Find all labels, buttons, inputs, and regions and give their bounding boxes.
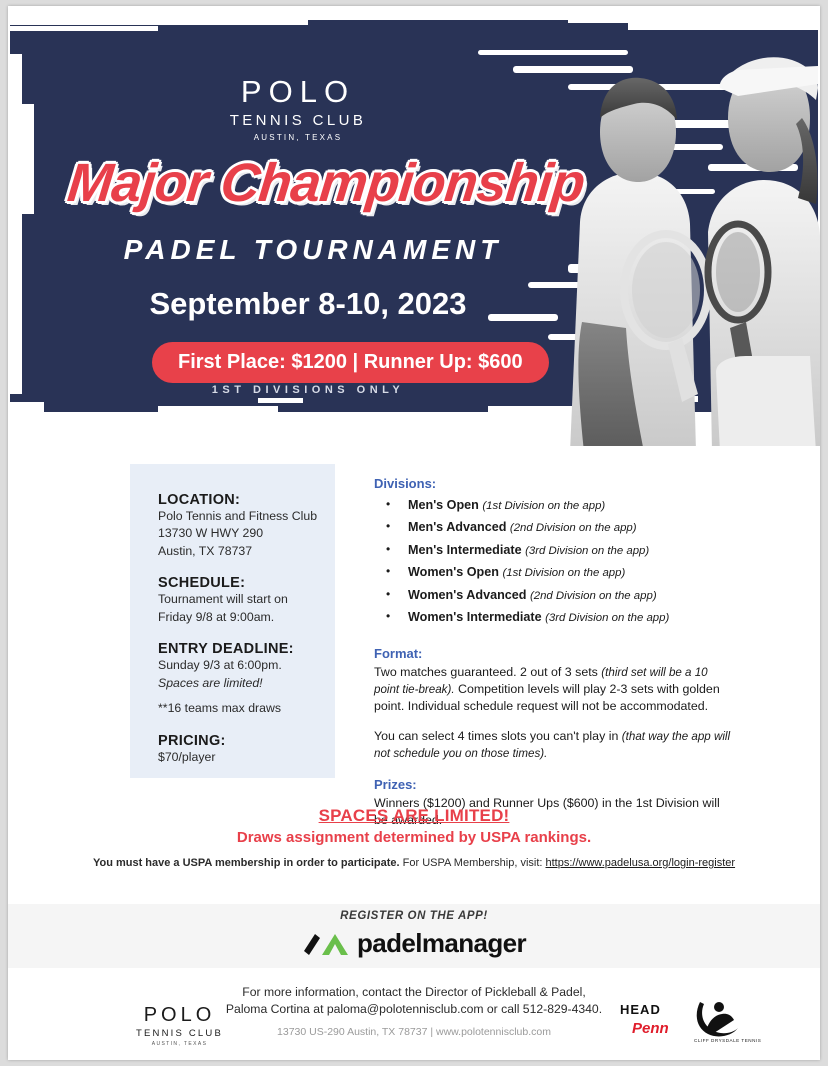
divisions-list: • Men's Open (1st Division on the app) •… [374,494,734,628]
penn-sponsor-logo: Penn [632,1020,669,1037]
hero-logo-polo: POLO [8,76,588,109]
bullet-icon: • [386,606,390,627]
event-subtitle: PADEL TOURNAMENT [8,234,618,266]
division-name: Women's Intermediate [408,610,542,624]
division-name: Men's Open [408,498,479,512]
register-band: REGISTER ON THE APP! padelmanager [8,904,820,968]
location-line-3: Austin, TX 78737 [158,543,335,560]
brush-stroke-top [8,14,308,25]
format-paragraph-1: Two matches guaranteed. 2 out of 3 sets … [374,664,734,715]
location-heading: LOCATION: [158,492,335,508]
schedule-heading: SCHEDULE: [158,575,335,591]
event-date: September 8-10, 2023 [8,286,608,322]
footer-logo-club: TENNIS CLUB [136,1028,223,1039]
deadline-line-2: Spaces are limited! [158,675,335,692]
bullet-icon: • [386,584,390,605]
register-band-title: REGISTER ON THE APP! [8,910,820,922]
list-item: • Women's Advanced (2nd Division on the … [374,584,734,606]
footer-logo-city: AUSTIN, TEXAS [136,1041,223,1047]
schedule-line-1: Tournament will start on [158,591,335,608]
division-name: Men's Intermediate [408,543,522,557]
footer-logo-polo: POLO [136,1004,223,1027]
list-item: • Men's Intermediate (3rd Division on th… [374,539,734,561]
format-p2-a: You can select 4 times slots you can't p… [374,729,622,743]
sponsor-logos: HEAD Penn CLIFF DRYSDALE TENNIS [620,998,790,1048]
hero-logo-club: TENNIS CLUB [8,112,588,129]
brush-stroke-bottom [158,406,278,414]
footer-club-logo: POLO TENNIS CLUB AUSTIN, TEXAS [136,1004,223,1047]
head-sponsor-logo: HEAD [620,1002,661,1017]
division-note: (1st Division on the app) [502,567,625,579]
division-note: (3rd Division on the app) [525,545,649,557]
location-line-1: Polo Tennis and Fitness Club [158,508,335,525]
padelmanager-mark-icon [302,930,348,963]
uspa-rest-text: For USPA Membership, visit: [400,857,546,869]
pricing-heading: PRICING: [158,733,335,749]
location-line-2: 13730 W HWY 290 [158,525,335,542]
brush-stroke-bottom [258,398,303,403]
format-p1-a: Two matches guaranteed. 2 out of 3 sets [374,665,601,679]
padelmanager-wordmark: padelmanager [357,928,526,958]
division-note: (3rd Division on the app) [545,612,669,624]
uspa-bold-text: You must have a USPA membership in order… [93,857,400,869]
division-name: Women's Open [408,565,499,579]
division-note: (2nd Division on the app) [510,522,637,534]
list-item: • Women's Intermediate (3rd Division on … [374,606,734,628]
division-name: Men's Advanced [408,520,506,534]
padelmanager-logo[interactable]: padelmanager [8,928,820,963]
brush-stroke-top [8,26,158,31]
deadline-line-1: Sunday 9/3 at 6:00pm. [158,657,335,674]
bullet-icon: • [386,516,390,537]
uspa-membership-link[interactable]: https://www.padelusa.org/login-register [546,857,736,869]
spaces-limited-callout: SPACES ARE LIMITED! [8,806,820,826]
brush-stroke-top [298,14,418,20]
hero-banner: POLO TENNIS CLUB AUSTIN, TEXAS Major Cha… [8,14,820,446]
brush-stroke-bottom [8,402,44,414]
list-item: • Men's Open (1st Division on the app) [374,494,734,516]
prize-badge: First Place: $1200 | Runner Up: $600 [152,342,549,383]
division-note: (1st Division on the app) [482,500,605,512]
event-title: Major Championship [23,152,630,214]
format-paragraph-2: You can select 4 times slots you can't p… [374,728,734,762]
flyer-page: POLO TENNIS CLUB AUSTIN, TEXAS Major Cha… [8,6,820,1060]
brush-stroke-top [438,14,498,19]
division-note: (2nd Division on the app) [530,590,657,602]
deadline-heading: ENTRY DEADLINE: [158,641,335,657]
hero-logo-city: AUSTIN, TEXAS [8,133,588,142]
prizes-heading: Prizes: [374,777,734,792]
format-heading: Format: [374,646,734,661]
bullet-icon: • [386,561,390,582]
draws-assignment-note: Draws assignment determined by USPA rank… [8,829,820,846]
divisions-only-note: 1ST DIVISIONS ONLY [8,384,608,396]
division-name: Women's Advanced [408,588,526,602]
list-item: • Men's Advanced (2nd Division on the ap… [374,516,734,538]
bullet-icon: • [386,494,390,515]
pricing-line-1: $70/player [158,749,335,766]
divisions-heading: Divisions: [374,476,734,491]
deadline-line-3: **16 teams max draws [158,700,335,717]
uspa-membership-note: You must have a USPA membership in order… [8,857,820,869]
details-infobox: LOCATION: Polo Tennis and Fitness Club 1… [130,464,335,778]
hero-club-logo: POLO TENNIS CLUB AUSTIN, TEXAS [8,76,588,142]
bullet-icon: • [386,539,390,560]
cliff-drysdale-label: CLIFF DRYSDALE TENNIS [694,1038,761,1043]
schedule-line-2: Friday 9/8 at 9:00am. [158,609,335,626]
list-item: • Women's Open (1st Division on the app) [374,561,734,583]
details-right-column: Divisions: • Men's Open (1st Division on… [374,476,734,829]
